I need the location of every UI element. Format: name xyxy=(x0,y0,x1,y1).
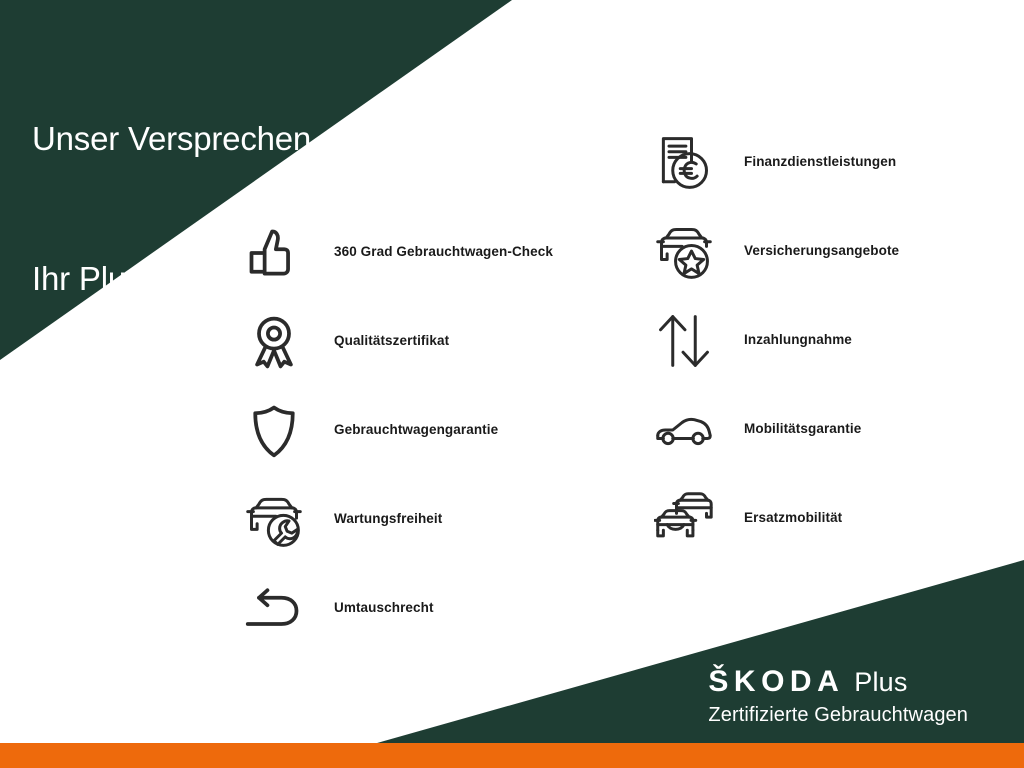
benefit-label: Mobilitätsgarantie xyxy=(744,421,861,437)
benefit-item-mobilitaetsgarantie[interactable]: Mobilitätsgarantie xyxy=(648,385,1018,474)
benefits-column-right: Finanzdienstleistungen Versicherungsange… xyxy=(648,118,1018,563)
logo-skoda-wordmark: ŠKODA xyxy=(708,667,844,697)
document-euro-icon xyxy=(648,127,720,199)
shield-icon xyxy=(238,395,310,467)
benefit-label: Qualitätszertifikat xyxy=(334,333,449,349)
benefit-item-gebrauchtwagen-check[interactable]: 360 Grad Gebrauchtwagen-Check xyxy=(238,208,618,297)
benefit-item-ersatzmobilitaet[interactable]: Ersatzmobilität xyxy=(648,474,1018,563)
benefit-label: Inzahlungnahme xyxy=(744,332,852,348)
benefit-item-qualitaetszertifikat[interactable]: Qualitätszertifikat xyxy=(238,297,618,386)
return-arrow-icon xyxy=(238,573,310,645)
benefit-item-inzahlungnahme[interactable]: Inzahlungnahme xyxy=(648,296,1018,385)
benefit-label: Gebrauchtwagengarantie xyxy=(334,422,498,438)
benefit-label: Finanzdienstleistungen xyxy=(744,154,896,170)
benefit-item-finanzdienstleistungen[interactable]: Finanzdienstleistungen xyxy=(648,118,1018,207)
award-rosette-icon xyxy=(238,306,310,378)
two-cars-icon xyxy=(648,483,720,555)
car-star-icon xyxy=(648,216,720,288)
logo-plus-suffix: Plus xyxy=(854,669,907,696)
promo-slide: Unser Versprechen. Ihr Plus. 360 Grad Ge… xyxy=(0,0,1024,768)
logo-wordmark-row: ŠKODA Plus xyxy=(708,667,968,697)
benefit-item-gebrauchtwagengarantie[interactable]: Gebrauchtwagengarantie xyxy=(238,386,618,475)
benefit-item-versicherungsangebote[interactable]: Versicherungsangebote xyxy=(648,207,1018,296)
benefit-label: Wartungsfreiheit xyxy=(334,511,442,527)
orange-accent-bar xyxy=(0,743,1024,768)
benefit-item-wartungsfreiheit[interactable]: Wartungsfreiheit xyxy=(238,475,618,564)
benefit-label: Versicherungsangebote xyxy=(744,243,899,259)
benefit-label: Umtauschrecht xyxy=(334,600,434,616)
skoda-plus-logo: ŠKODA Plus Zertifizierte Gebrauchtwagen xyxy=(708,667,968,726)
benefit-item-umtauschrecht[interactable]: Umtauschrecht xyxy=(238,564,618,653)
headline-line-1: Unser Versprechen. xyxy=(32,116,320,163)
benefit-label: 360 Grad Gebrauchtwagen-Check xyxy=(334,244,553,260)
thumbs-up-icon xyxy=(238,217,310,289)
up-down-arrows-icon xyxy=(648,305,720,377)
benefit-label: Ersatzmobilität xyxy=(744,510,842,526)
car-wrench-icon xyxy=(238,484,310,556)
car-side-icon xyxy=(648,394,720,466)
benefits-column-left: 360 Grad Gebrauchtwagen-Check Qualitätsz… xyxy=(238,208,618,653)
logo-tagline: Zertifizierte Gebrauchtwagen xyxy=(708,704,968,726)
